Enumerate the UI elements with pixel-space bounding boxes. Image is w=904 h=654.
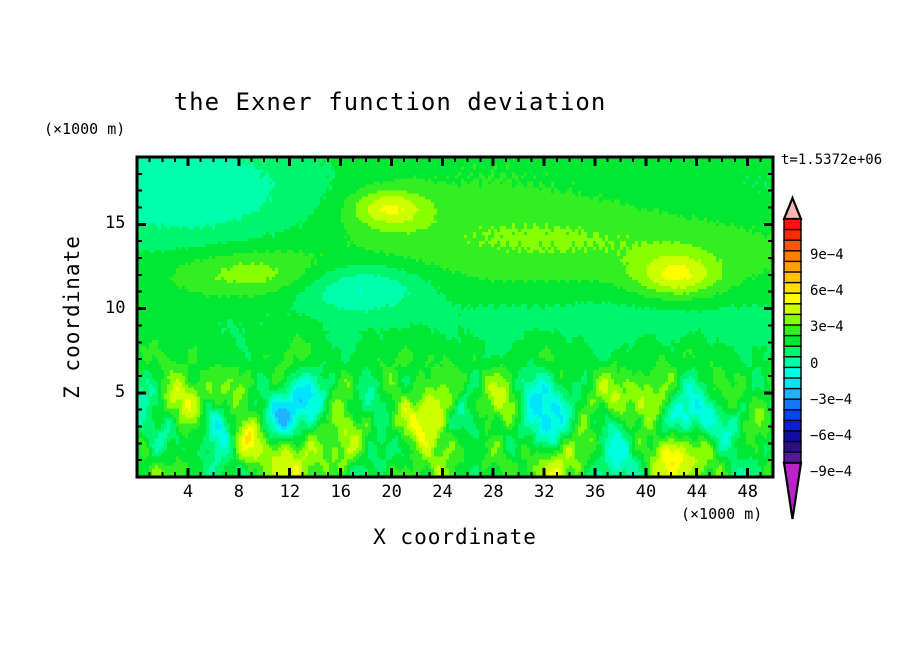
contour-plot bbox=[0, 0, 904, 654]
x-tick-label: 28 bbox=[483, 482, 503, 502]
colorbar-tick-label: 0 bbox=[810, 356, 818, 372]
x-axis-unit-label: (×1000 m) bbox=[681, 505, 762, 523]
x-axis-title: X coordinate bbox=[137, 525, 773, 549]
y-tick-label: 15 bbox=[105, 213, 125, 233]
contour-field bbox=[137, 157, 773, 477]
x-tick-label: 24 bbox=[432, 482, 452, 502]
x-tick-label: 20 bbox=[381, 482, 401, 502]
x-tick-label: 40 bbox=[636, 482, 656, 502]
x-tick-label: 4 bbox=[183, 482, 193, 502]
x-tick-label: 32 bbox=[534, 482, 554, 502]
colorbar-tick-label: −6e−4 bbox=[810, 428, 852, 444]
colorbar[interactable] bbox=[784, 198, 801, 519]
colorbar-tick-label: −3e−4 bbox=[810, 392, 852, 408]
figure-canvas: the Exner function deviation (×1000 m) t… bbox=[0, 0, 904, 654]
colorbar-tick-label: 9e−4 bbox=[810, 247, 844, 263]
x-tick-label: 12 bbox=[280, 482, 300, 502]
y-tick-label: 10 bbox=[105, 298, 125, 318]
x-tick-label: 16 bbox=[331, 482, 351, 502]
x-tick-label: 8 bbox=[234, 482, 244, 502]
colorbar-tick-label: −9e−4 bbox=[810, 464, 852, 480]
colorbar-tick-label: 6e−4 bbox=[810, 283, 844, 299]
x-tick-label: 36 bbox=[585, 482, 605, 502]
x-tick-label: 48 bbox=[738, 482, 758, 502]
x-tick-label: 44 bbox=[687, 482, 707, 502]
colorbar-tick-label: 3e−4 bbox=[810, 319, 844, 335]
y-tick-label: 5 bbox=[115, 382, 125, 402]
y-axis-title: Z coordinate bbox=[60, 217, 84, 417]
